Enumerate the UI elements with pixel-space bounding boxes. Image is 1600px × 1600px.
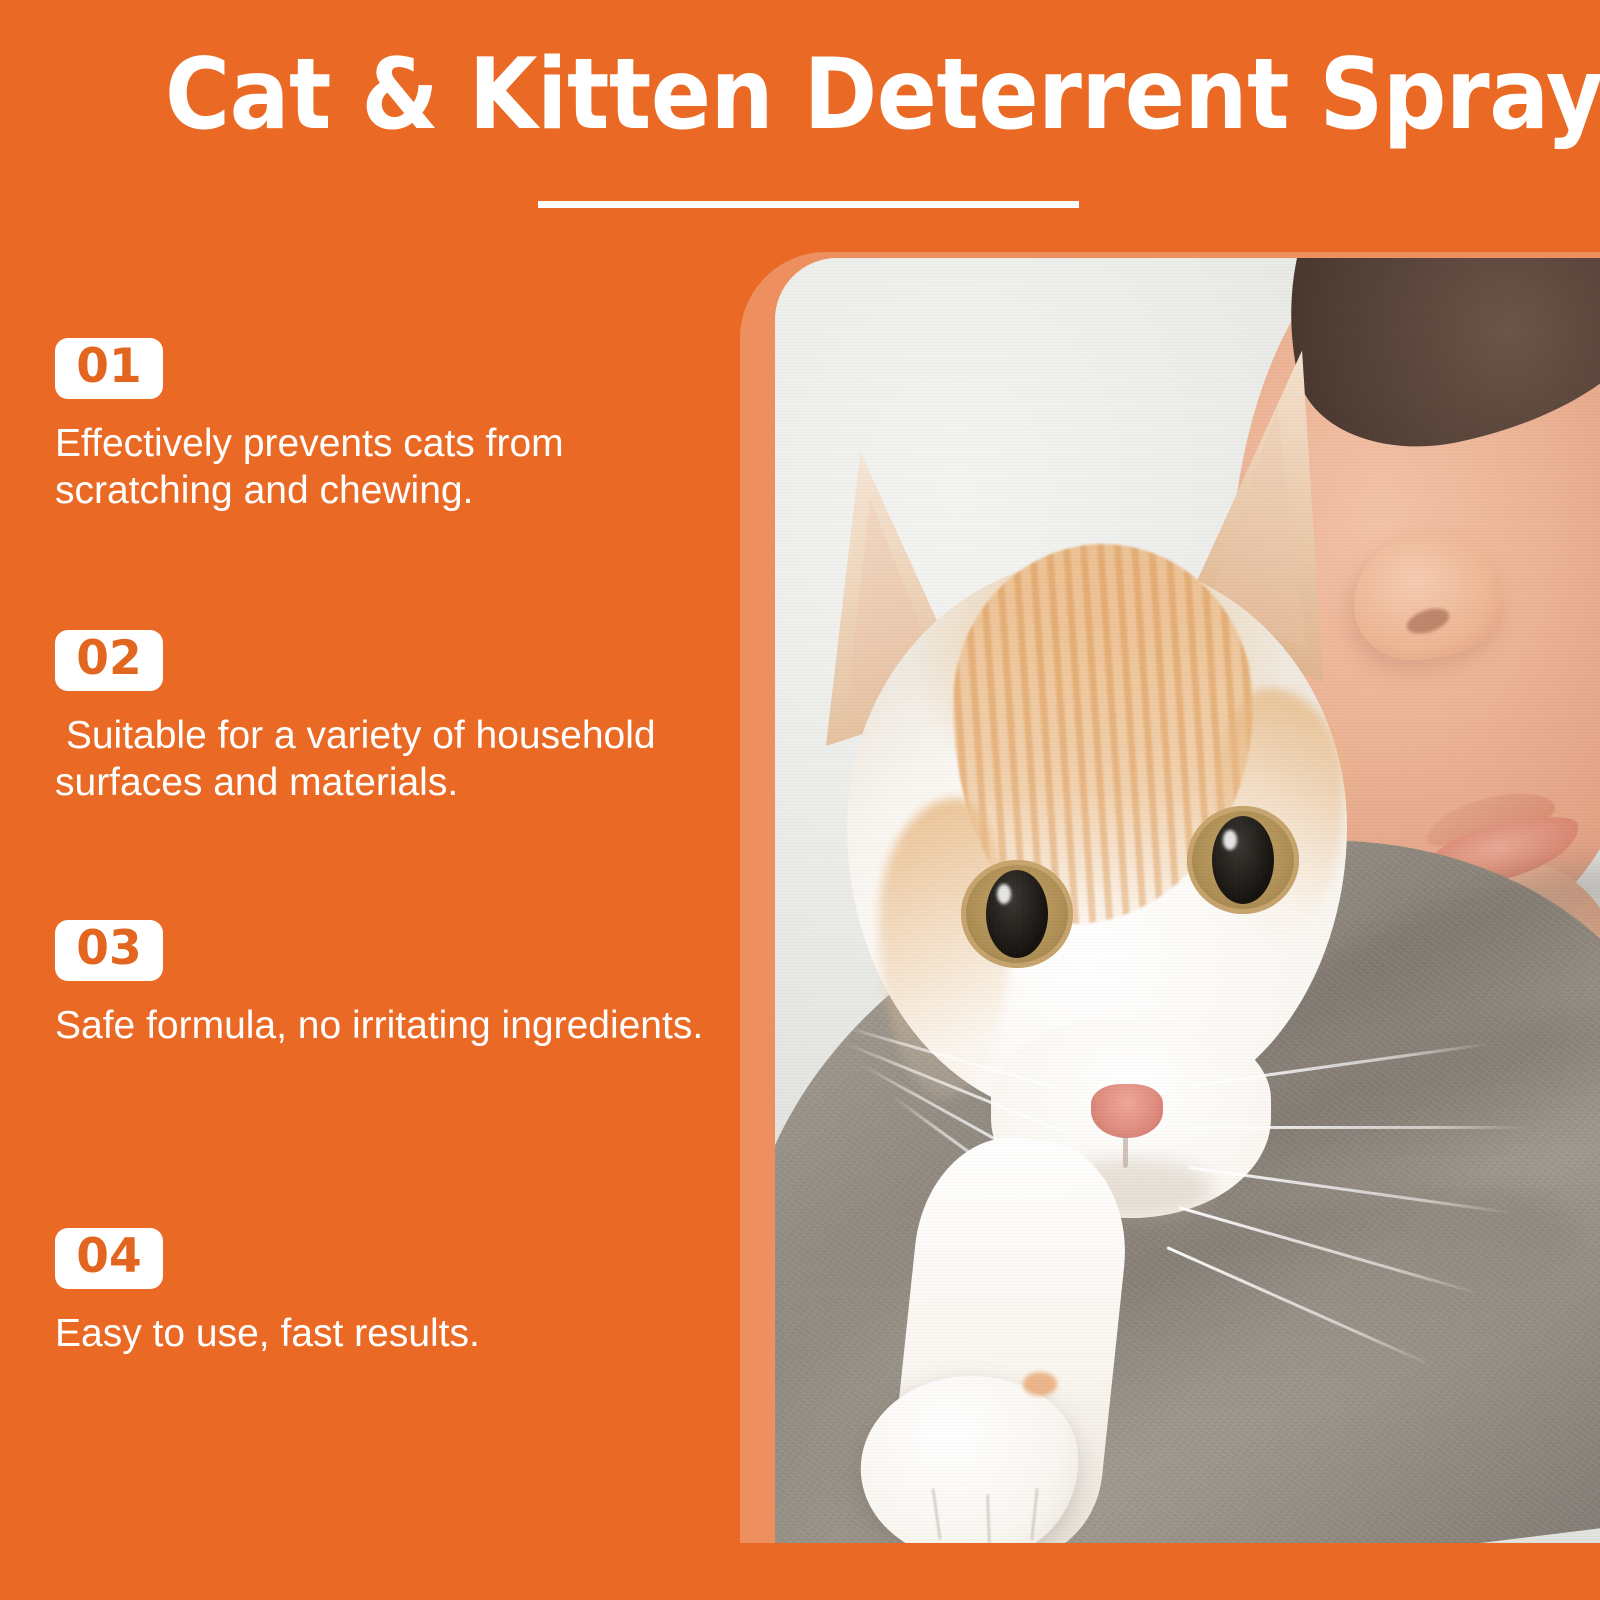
product-photo bbox=[775, 258, 1600, 1543]
cat-whisker bbox=[1166, 1246, 1432, 1367]
product-infographic-poster: Cat & Kitten Deterrent Spray 01 Effectiv… bbox=[0, 0, 1600, 1600]
cat-eye-glint-right bbox=[1223, 830, 1237, 850]
feature-text-01: Effectively prevents cats from scratchin… bbox=[55, 421, 715, 515]
cat-eye-glint-left bbox=[997, 884, 1011, 904]
cat-nose bbox=[1091, 1084, 1163, 1138]
cat-paw-orange-accent bbox=[1023, 1372, 1057, 1396]
feature-number-badge-01: 01 bbox=[55, 338, 163, 399]
cat-pupil-right bbox=[1212, 816, 1274, 904]
feature-number-badge-02: 02 bbox=[55, 630, 163, 691]
feature-item-03: 03 Safe formula, no irritating ingredien… bbox=[55, 920, 725, 1050]
feature-number-badge-03: 03 bbox=[55, 920, 163, 981]
feature-list: 01 Effectively prevents cats from scratc… bbox=[0, 0, 740, 1600]
cat-pupil-left bbox=[986, 870, 1048, 958]
feature-text-03: Safe formula, no irritating ingredients. bbox=[55, 1003, 715, 1050]
cat-whisker bbox=[1195, 1126, 1525, 1129]
cat bbox=[775, 258, 1600, 1543]
feature-text-04: Easy to use, fast results. bbox=[55, 1311, 715, 1358]
feature-item-04: 04 Easy to use, fast results. bbox=[55, 1228, 725, 1358]
cat-whisker bbox=[1189, 1166, 1512, 1214]
feature-item-01: 01 Effectively prevents cats from scratc… bbox=[55, 338, 725, 515]
cat-whisker bbox=[1179, 1206, 1480, 1295]
feature-text-02: Suitable for a variety of household surf… bbox=[55, 713, 715, 807]
feature-number-badge-04: 04 bbox=[55, 1228, 163, 1289]
feature-item-02: 02 Suitable for a variety of household s… bbox=[55, 630, 725, 807]
